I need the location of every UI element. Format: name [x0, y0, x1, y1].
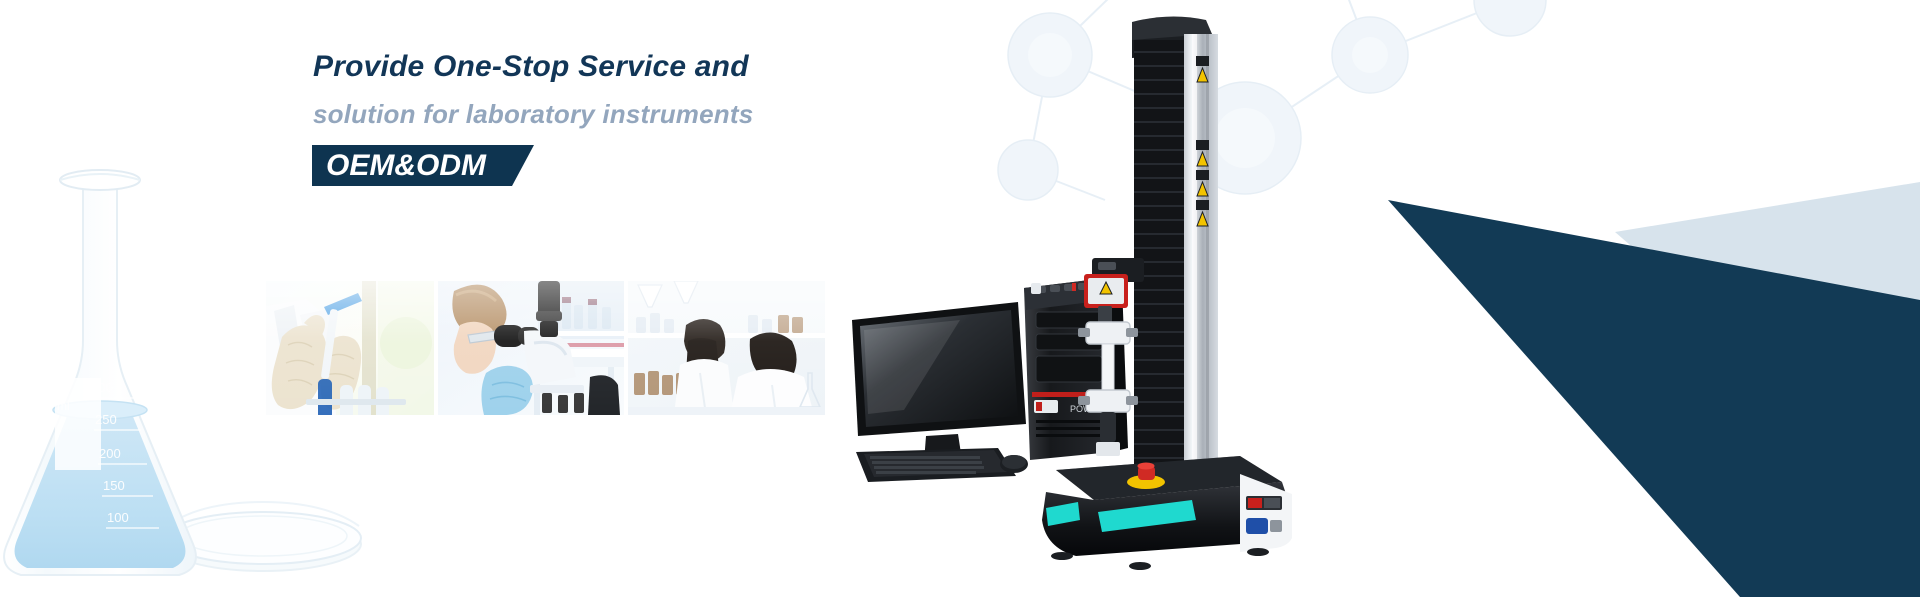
flask-graduation-150: 150 — [103, 478, 125, 493]
promo-banner: 300 250 200 150 100 ml Provide One-Stop … — [0, 0, 1920, 597]
computer-tower: POWER — [1024, 278, 1128, 460]
tower-brand-label: POWER — [1070, 404, 1105, 414]
chevron-graphics — [1220, 0, 1920, 597]
warning-label-3 — [1196, 170, 1209, 196]
accent-light-right — [1098, 500, 1196, 532]
flask-graduation-250: 250 — [95, 412, 117, 427]
photo-pipetting — [266, 281, 434, 415]
warning-label-1 — [1196, 56, 1209, 82]
headline-line-1: Provide One-Stop Service and — [313, 52, 933, 82]
load-cell — [1084, 258, 1144, 324]
universal-tensile-testing-machine — [1042, 16, 1292, 570]
keyboard — [856, 448, 1016, 482]
control-panel — [1240, 474, 1292, 552]
chevron-dark-shape — [1388, 200, 1920, 597]
desktop-monitor — [852, 302, 1026, 470]
photo-microscope — [438, 281, 624, 415]
headline-block: Provide One-Stop Service and solution fo… — [313, 52, 933, 186]
headline-line-2: solution for laboratory instruments — [313, 101, 933, 127]
photo-lab-team — [628, 281, 825, 415]
flask-unit-label: ml — [57, 399, 70, 413]
lower-grip — [1078, 390, 1138, 456]
mouse — [1000, 455, 1028, 473]
chevron-light-shape — [1615, 182, 1920, 380]
photo-strip — [266, 281, 825, 415]
emergency-stop-button — [1127, 463, 1165, 490]
flask-graduation-300: 300 — [91, 380, 113, 395]
accent-light-left — [1046, 502, 1080, 526]
warning-label-4 — [1196, 200, 1209, 226]
warning-label-2 — [1196, 140, 1209, 166]
equipment-cluster: POWER — [840, 0, 1540, 597]
petri-dish — [165, 502, 361, 571]
oem-odm-badge: OEM&ODM — [312, 145, 512, 186]
flask-graduation-100: 100 — [107, 510, 129, 525]
flask-graduation-200: 200 — [99, 446, 121, 461]
molecule-watermark — [900, 0, 1720, 290]
upper-grip — [1078, 322, 1138, 390]
